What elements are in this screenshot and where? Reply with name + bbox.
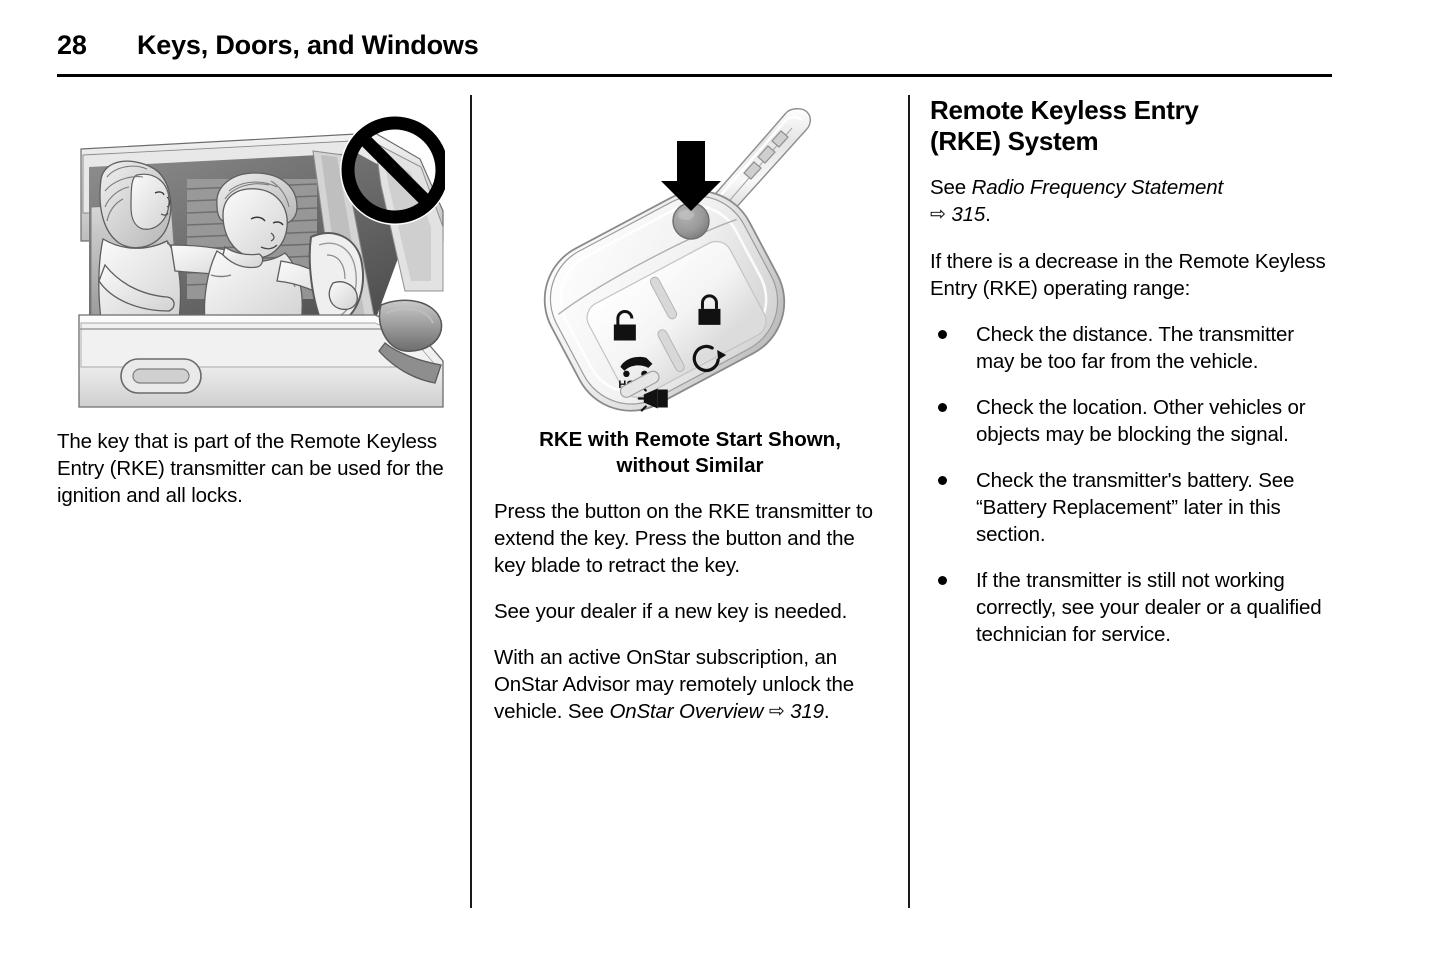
bullet-dot-icon — [938, 476, 947, 485]
rke-key-fob-illustration: HOLD — [494, 95, 886, 415]
list-item-text: Check the location. Other vehicles or ob… — [976, 396, 1305, 446]
children-in-vehicle-illustration — [75, 115, 445, 410]
header-rule — [57, 74, 1332, 77]
column-right: Remote Keyless Entry (RKE) System See Ra… — [930, 95, 1328, 667]
middle-paragraph-3: With an active OnStar subscription, an O… — [494, 644, 886, 726]
list-item: Check the location. Other vehicles or ob… — [930, 394, 1328, 448]
page-header: 28 Keys, Doors, and Windows — [57, 30, 1332, 76]
column-left: The key that is part of the Remote Keyle… — [57, 95, 449, 528]
bullet-dot-icon — [938, 576, 947, 585]
see-ref-lead: See — [930, 176, 972, 199]
list-item-text: Check the distance. The transmitter may … — [976, 323, 1294, 373]
see-ref-end: . — [985, 203, 991, 226]
section-heading: Remote Keyless Entry (RKE) System — [930, 95, 1328, 157]
troubleshooting-list: Check the distance. The transmitter may … — [930, 321, 1328, 648]
caption-line-1: RKE with Remote Start Shown, — [539, 428, 841, 451]
right-column-intro: If there is a decrease in the Remote Key… — [930, 248, 1328, 302]
list-item-text: If the transmitter is still not working … — [976, 569, 1322, 646]
xref-arrow-icon: ⇨ — [930, 201, 946, 228]
column-divider-left — [470, 95, 472, 908]
section-heading-line-2: (RKE) System — [930, 126, 1098, 156]
page-title: Keys, Doors, and Windows — [137, 30, 479, 61]
caption-line-2: without Similar — [617, 454, 764, 477]
radio-frequency-reference: See Radio Frequency Statement⇨ 315. — [930, 174, 1328, 229]
section-heading-line-1: Remote Keyless Entry — [930, 95, 1199, 125]
onstar-overview-page: 319 — [790, 700, 824, 723]
middle-paragraph-2: See your dealer if a new key is needed. — [494, 598, 886, 625]
list-item: Check the distance. The transmitter may … — [930, 321, 1328, 375]
page-number: 28 — [57, 30, 87, 61]
radio-frequency-page: 315 — [951, 203, 985, 226]
list-item: Check the transmitter's battery. See “Ba… — [930, 467, 1328, 548]
figure-caption: RKE with Remote Start Shown, without Sim… — [494, 427, 886, 479]
onstar-text-end: . — [824, 700, 830, 723]
bullet-dot-icon — [938, 330, 947, 339]
left-column-paragraph: The key that is part of the Remote Keyle… — [57, 428, 449, 509]
middle-paragraph-1: Press the button on the RKE transmitter … — [494, 498, 886, 579]
list-item: If the transmitter is still not working … — [930, 567, 1328, 648]
bullet-dot-icon — [938, 403, 947, 412]
onstar-overview-xref: OnStar Overview — [609, 700, 763, 723]
column-divider-right — [908, 95, 910, 908]
xref-arrow-icon: ⇨ — [769, 698, 785, 725]
column-middle: HOLD — [494, 95, 886, 745]
radio-frequency-statement-xref: Radio Frequency Statement — [972, 176, 1224, 199]
list-item-text: Check the transmitter's battery. See “Ba… — [976, 469, 1294, 546]
